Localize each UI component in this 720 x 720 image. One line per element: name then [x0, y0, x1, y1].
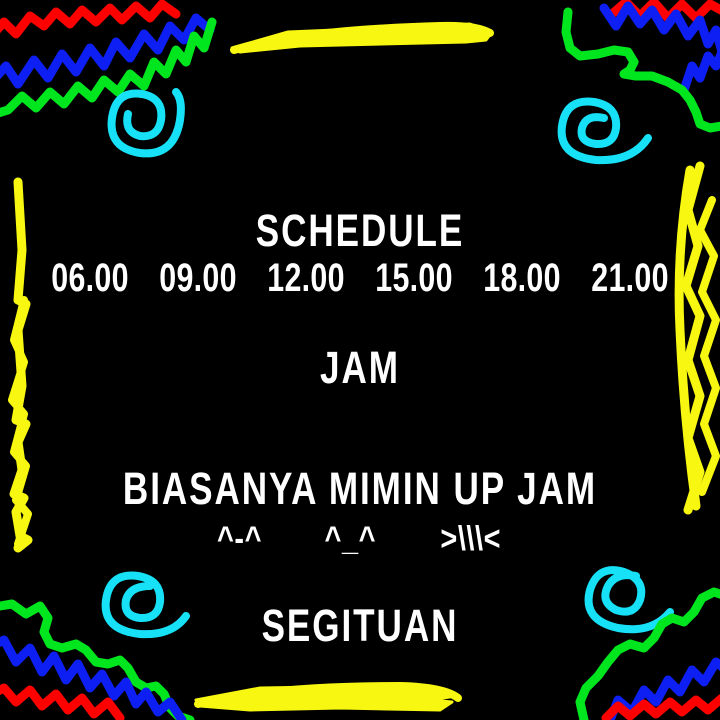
emoticons-row: ^-^ ^_^ >\\\< [0, 520, 720, 559]
message-line-2: SEGITUAN [79, 603, 641, 649]
poster-canvas: SCHEDULE JAM 06.00 09.00 12.00 15.00 18.… [0, 0, 720, 720]
schedule-time-0: 06.00 [49, 256, 131, 301]
schedule-time-2: 12.00 [265, 256, 347, 301]
schedule-time-1: 09.00 [157, 256, 239, 301]
schedule-times-row: 06.00 09.00 12.00 15.00 18.00 21.00 [0, 256, 720, 301]
schedule-time-4: 18.00 [481, 256, 563, 301]
emoticon-1: ^_^ [325, 520, 377, 559]
emoticon-2: >\\\< [440, 520, 501, 559]
title-line-1: SCHEDULE [79, 208, 641, 254]
message-line-1: BIASANYA MIMIN UP JAM [79, 466, 641, 512]
schedule-time-3: 15.00 [373, 256, 455, 301]
emoticon-0: ^-^ [217, 520, 262, 559]
schedule-time-5: 21.00 [589, 256, 671, 301]
poster-content: SCHEDULE JAM 06.00 09.00 12.00 15.00 18.… [0, 0, 720, 720]
